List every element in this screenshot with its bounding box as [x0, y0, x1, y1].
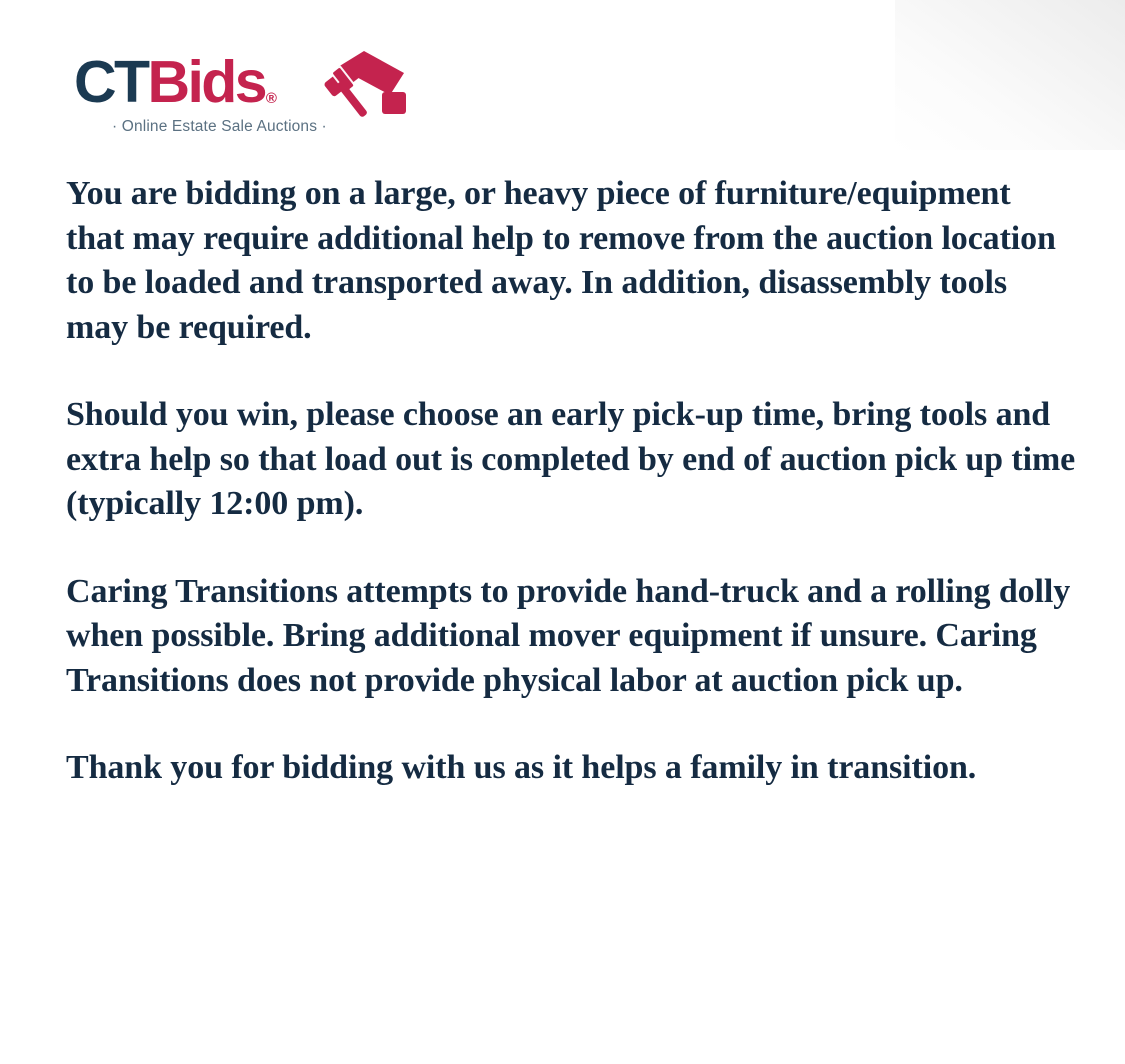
- corner-gradient-decoration: [895, 0, 1125, 150]
- notice-paragraph-2: Should you win, please choose an early p…: [66, 393, 1076, 527]
- registered-trademark-icon: ®: [266, 91, 277, 114]
- notice-page: CT Bids ® · Online Estate Sale Auctions: [0, 0, 1125, 1064]
- logo-text-bids: Bids: [147, 52, 264, 112]
- notice-paragraph-1: You are bidding on a large, or heavy pie…: [66, 172, 1076, 350]
- logo-tagline: · Online Estate Sale Auctions ·: [112, 118, 327, 136]
- notice-paragraph-4: Thank you for bidding with us as it help…: [66, 746, 1076, 791]
- gavel-roof-icon: [312, 48, 408, 120]
- notice-paragraph-3: Caring Transitions attempts to provide h…: [66, 570, 1076, 704]
- notice-body: You are bidding on a large, or heavy pie…: [66, 172, 1076, 791]
- logo-text-ct: CT: [74, 52, 147, 112]
- ctbids-logo[interactable]: CT Bids ® · Online Estate Sale Auctions: [74, 52, 414, 144]
